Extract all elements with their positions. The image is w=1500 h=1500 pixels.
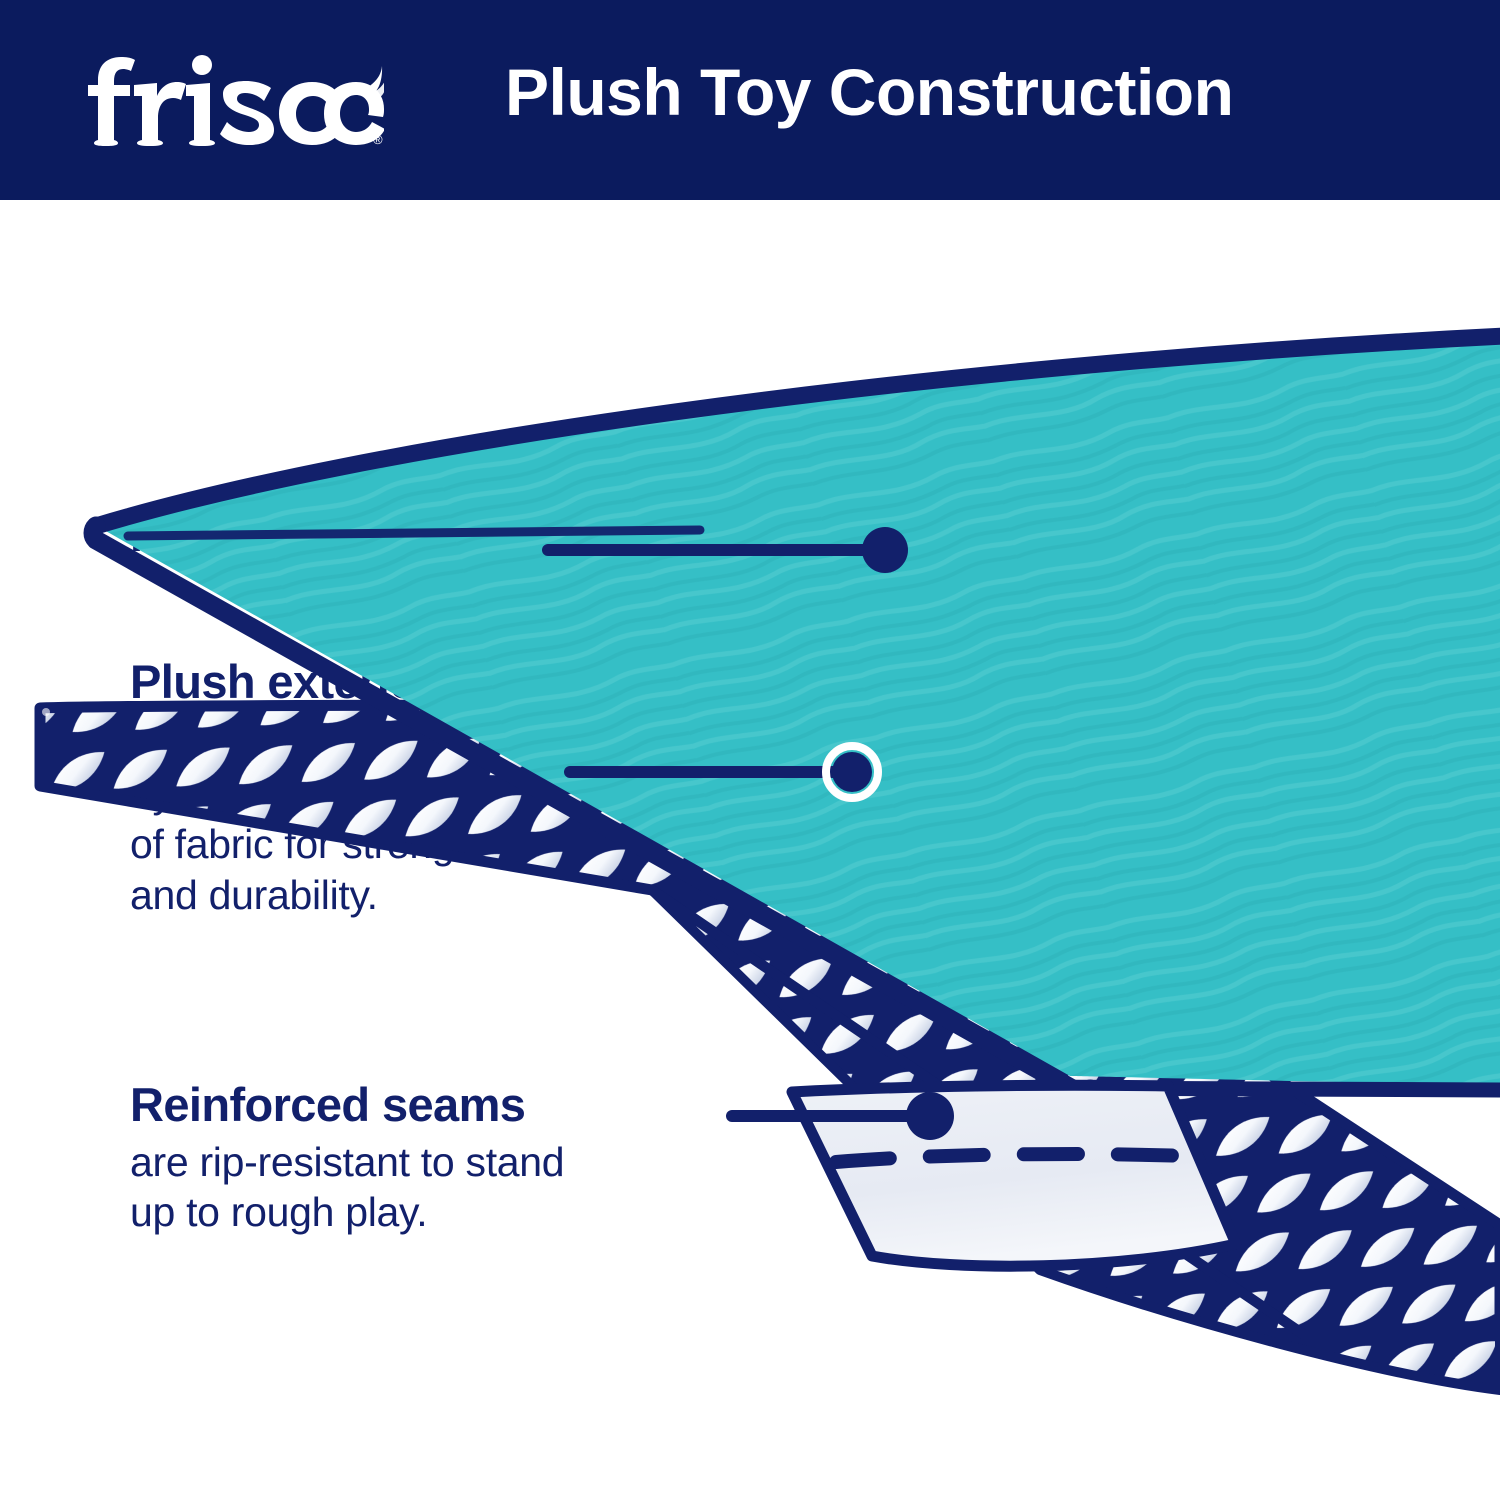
registered-trademark-symbol: ® — [373, 132, 383, 147]
header-bar: ® Plush Toy Construction — [0, 0, 1500, 200]
frisco-wordmark-icon: ® — [84, 52, 384, 152]
frisco-logo: ® — [84, 52, 384, 152]
page-title: Plush Toy Construction — [505, 54, 1233, 130]
plush-toy-cutaway-illustration — [0, 200, 1500, 1500]
